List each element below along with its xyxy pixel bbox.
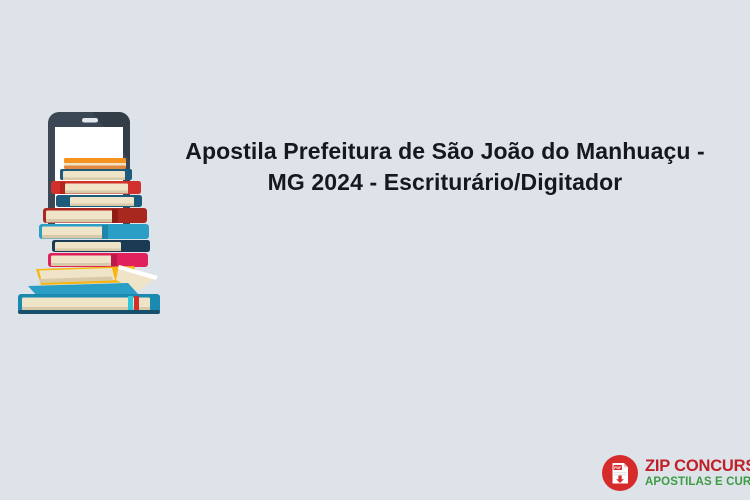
- product-cover-canvas: Apostila Prefeitura de São João do Manhu…: [0, 0, 750, 500]
- book-navy-mid: [56, 195, 142, 207]
- brand-logo[interactable]: PDF ZIP CONCURSOS APOSTILAS E CURSOS: [601, 452, 747, 494]
- book-blue-mid: [39, 224, 149, 239]
- svg-text:PDF: PDF: [614, 466, 622, 470]
- pdf-download-circle-icon: PDF: [601, 454, 639, 492]
- book-navy-lower: [52, 240, 150, 252]
- stack-of-books-with-tablet-illustration: [8, 108, 178, 316]
- book-red-upper: [51, 181, 141, 194]
- page-title-line-2: MG 2024 - Escriturário/Digitador: [180, 167, 710, 198]
- brand-name: ZIP CONCURSOS: [645, 458, 750, 475]
- book-maroon: [43, 208, 147, 223]
- page-title: Apostila Prefeitura de São João do Manhu…: [180, 136, 710, 198]
- brand-wordmark: ZIP CONCURSOS APOSTILAS E CURSOS: [645, 458, 750, 489]
- book-navy-upper: [60, 169, 132, 180]
- book-crimson: [48, 253, 148, 267]
- book-orange-top: [64, 158, 126, 169]
- brand-tagline: APOSTILAS E CURSOS: [645, 477, 750, 489]
- page-title-line-1: Apostila Prefeitura de São João do Manhu…: [180, 136, 710, 167]
